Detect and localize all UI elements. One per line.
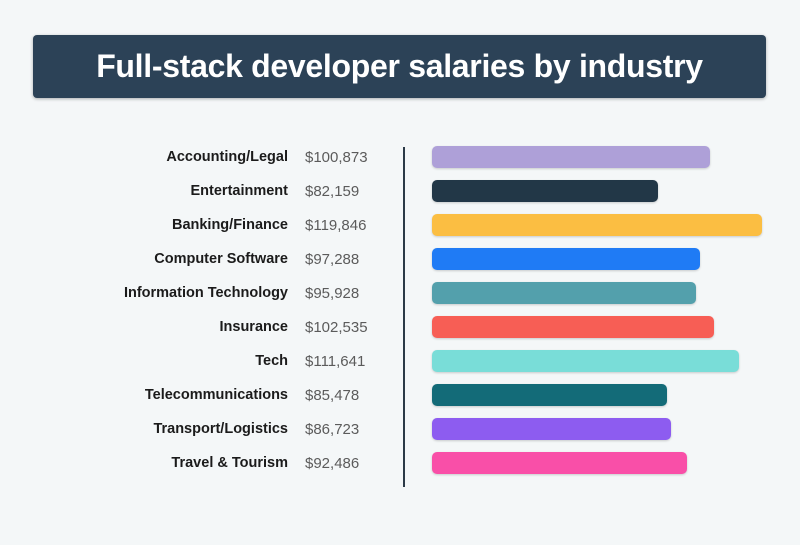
bar-row: Travel & Tourism$92,486 — [0, 446, 800, 480]
bar-row: Telecommunications$85,478 — [0, 378, 800, 412]
bar-row: Insurance$102,535 — [0, 310, 800, 344]
bar-row: Information Technology$95,928 — [0, 276, 800, 310]
bar-rows: Accounting/Legal$100,873Entertainment$82… — [0, 140, 800, 480]
bar — [432, 180, 658, 202]
value-label: $100,873 — [305, 149, 397, 166]
bar-track — [432, 214, 762, 236]
bar-track — [432, 180, 762, 202]
title-banner: Full-stack developer salaries by industr… — [33, 35, 766, 98]
plot-area: Accounting/Legal$100,873Entertainment$82… — [0, 140, 800, 496]
bar — [432, 214, 762, 236]
category-label: Banking/Finance — [60, 217, 288, 233]
bar-row: Entertainment$82,159 — [0, 174, 800, 208]
value-label: $119,846 — [305, 217, 397, 234]
value-label: $95,928 — [305, 285, 397, 302]
bar-row: Banking/Finance$119,846 — [0, 208, 800, 242]
category-label: Transport/Logistics — [60, 421, 288, 437]
category-label: Information Technology — [60, 285, 288, 301]
bar — [432, 282, 696, 304]
bar-track — [432, 418, 762, 440]
bar — [432, 248, 700, 270]
bar-track — [432, 316, 762, 338]
bar — [432, 452, 687, 474]
category-label: Accounting/Legal — [60, 149, 288, 165]
value-label: $82,159 — [305, 183, 397, 200]
category-label: Tech — [60, 353, 288, 369]
value-label: $92,486 — [305, 455, 397, 472]
value-label: $85,478 — [305, 387, 397, 404]
value-label: $102,535 — [305, 319, 397, 336]
category-label: Insurance — [60, 319, 288, 335]
bar — [432, 418, 671, 440]
bar — [432, 384, 667, 406]
page-title: Full-stack developer salaries by industr… — [96, 48, 703, 85]
value-label: $86,723 — [305, 421, 397, 438]
category-label: Entertainment — [60, 183, 288, 199]
bar-track — [432, 384, 762, 406]
bar-row: Computer Software$97,288 — [0, 242, 800, 276]
category-label: Telecommunications — [60, 387, 288, 403]
bar-track — [432, 282, 762, 304]
category-label: Computer Software — [60, 251, 288, 267]
bar-track — [432, 452, 762, 474]
bar — [432, 146, 710, 168]
bar-track — [432, 350, 762, 372]
bar-row: Tech$111,641 — [0, 344, 800, 378]
bar-row: Transport/Logistics$86,723 — [0, 412, 800, 446]
value-label: $97,288 — [305, 251, 397, 268]
bar-track — [432, 248, 762, 270]
value-label: $111,641 — [305, 353, 397, 370]
bar — [432, 350, 739, 372]
bar-row: Accounting/Legal$100,873 — [0, 140, 800, 174]
bar-track — [432, 146, 762, 168]
bar — [432, 316, 714, 338]
chart-root: Full-stack developer salaries by industr… — [0, 0, 800, 545]
category-label: Travel & Tourism — [60, 455, 288, 471]
